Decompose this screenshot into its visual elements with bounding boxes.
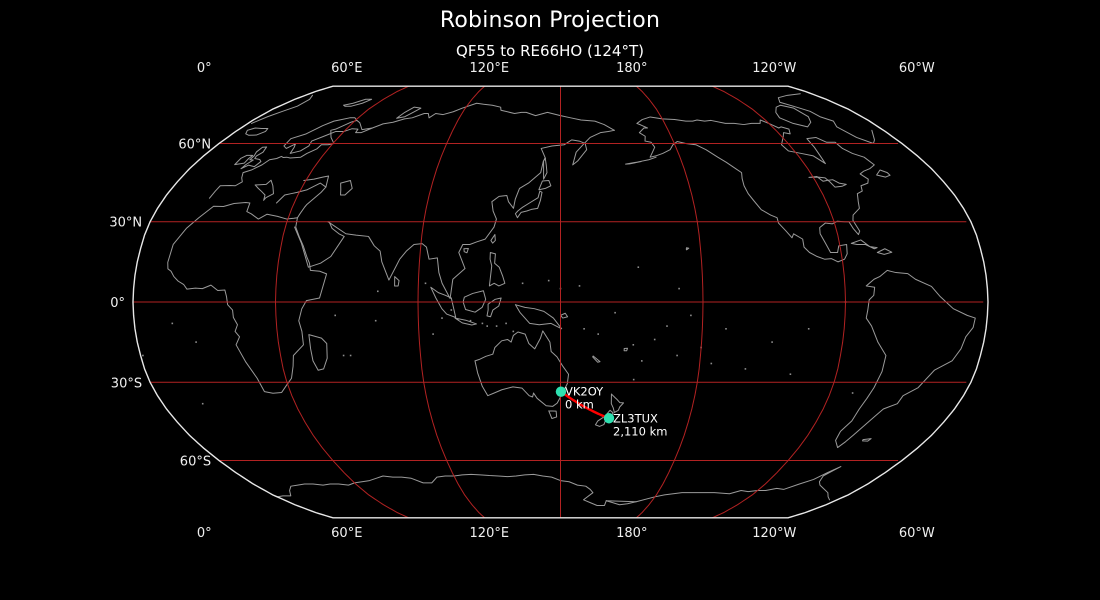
lat-tick-label: 60°N — [178, 138, 211, 153]
lon-tick-label: 120°E — [470, 526, 510, 541]
lon-tick-label: 0° — [197, 526, 212, 541]
island-dot — [513, 331, 515, 333]
lon-tick-label: 0° — [197, 61, 212, 76]
lat-tick-label: 0° — [110, 296, 125, 311]
lon-tick-label: 60°W — [899, 526, 935, 541]
island-dot — [142, 355, 144, 357]
island-dot — [496, 325, 498, 327]
island-dot — [432, 333, 434, 335]
island-dot — [678, 288, 680, 290]
station-distance-label: 0 km — [565, 398, 594, 412]
island-dot — [666, 325, 668, 327]
island-dot — [711, 363, 713, 365]
station-callsign-label: VK2OY — [565, 385, 604, 399]
island-dot — [522, 283, 524, 285]
lon-tick-label: 60°E — [331, 61, 362, 76]
island-dot — [441, 317, 443, 319]
island-dot — [548, 280, 550, 282]
island-dot — [641, 360, 643, 362]
island-dot — [614, 312, 616, 314]
island-dot — [195, 341, 197, 343]
station-distance-label: 2,110 km — [613, 424, 667, 438]
island-dot — [690, 315, 692, 317]
island-dot — [725, 328, 727, 330]
island-dot — [486, 325, 488, 327]
lon-tick-label: 120°W — [752, 61, 796, 76]
island-dot — [745, 368, 747, 370]
island-dot — [343, 355, 345, 357]
lon-tick-label: 120°W — [752, 526, 796, 541]
lon-tick-label: 60°W — [899, 61, 935, 76]
island-dot — [334, 315, 336, 317]
island-dot — [451, 309, 453, 311]
island-dot — [470, 320, 472, 322]
island-dot — [597, 333, 599, 335]
island-dot — [654, 339, 656, 341]
island-dot — [425, 283, 427, 285]
station-callsign-label: ZL3TUX — [613, 411, 658, 425]
island-dot — [202, 403, 204, 405]
island-dot — [505, 323, 507, 325]
island-dot — [638, 266, 640, 268]
lon-tick-label: 120°E — [470, 61, 510, 76]
island-dot — [583, 328, 585, 330]
island-dot — [852, 392, 854, 394]
lat-tick-label: 60°S — [180, 455, 211, 470]
island-dot — [172, 323, 174, 325]
robinson-map-svg: VK2OY0 kmZL3TUX2,110 km 0°0°60°E60°E120°… — [0, 0, 1100, 600]
lat-tick-label: 30°S — [111, 376, 142, 391]
island-dot — [676, 355, 678, 357]
island-dot — [377, 291, 379, 293]
map-figure: Robinson Projection QF55 to RE66HO (124°… — [0, 0, 1100, 600]
lon-tick-label: 60°E — [331, 526, 362, 541]
island-dot — [808, 328, 810, 330]
island-dot — [790, 373, 792, 375]
lon-tick-label: 180° — [616, 61, 647, 76]
island-dot — [771, 341, 773, 343]
island-dot — [633, 344, 635, 346]
island-dot — [579, 285, 581, 287]
lon-tick-label: 180° — [616, 526, 647, 541]
lat-tick-label: 30°N — [109, 216, 142, 231]
island-dot — [482, 323, 484, 325]
island-dot — [350, 355, 352, 357]
island-dot — [375, 320, 377, 322]
island-dot — [633, 379, 635, 381]
